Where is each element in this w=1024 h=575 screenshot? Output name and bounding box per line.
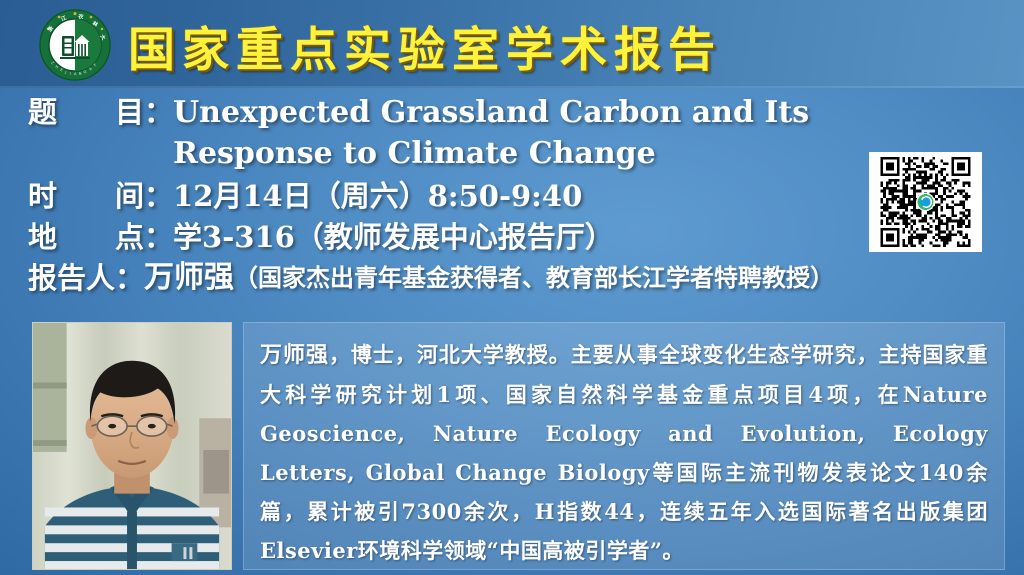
wechat-qr-code[interactable] — [869, 152, 982, 252]
speaker-portrait-photo — [32, 322, 232, 570]
speaker-bio-panel: 万师强，博士，河北大学教授。主要从事全球变化生态学研究，主持国家重大科学研究计划… — [243, 322, 1005, 570]
title-value: Unexpected Grassland Carbon and Its Resp… — [173, 92, 963, 174]
place-label: 地 点： — [28, 217, 173, 257]
university-logo-icon: 浙 江 农 林 大 Z H E J I A N G A F — [38, 8, 112, 82]
bio-name: 万师强 — [260, 342, 329, 368]
place-value: 学3-316（教师发展中心报告厅） — [173, 217, 614, 257]
speaker-label: 报告人： — [28, 258, 144, 298]
header-banner: 浙 江 农 林 大 Z H E J I A N G A F — [0, 0, 1024, 88]
title-label: 题 目： — [28, 92, 173, 132]
speaker-name: 万师强 — [144, 258, 234, 298]
speaker-affiliation: （国家杰出青年基金获得者、教育部长江学者特聘教授） — [234, 258, 834, 298]
qr-code-image — [874, 157, 977, 247]
seminar-poster: 浙 江 农 林 大 Z H E J I A N G A F — [0, 0, 1024, 575]
bio-body: ，博士，河北大学教授。主要从事全球变化生态学研究，主持国家重大科学研究计划1项、… — [260, 342, 988, 563]
time-label: 时 间： — [28, 176, 173, 216]
time-value: 12月14日（周六）8:50-9:40 — [173, 176, 582, 216]
wechat-logo-icon — [918, 194, 934, 210]
banner-title: 国家重点实验室学术报告 — [128, 6, 1008, 84]
speaker-bio-text: 万师强，博士，河北大学教授。主要从事全球变化生态学研究，主持国家重大科学研究计划… — [260, 335, 988, 570]
info-row-speaker: 报告人： 万师强 （国家杰出青年基金获得者、教育部长江学者特聘教授） — [0, 258, 1024, 298]
